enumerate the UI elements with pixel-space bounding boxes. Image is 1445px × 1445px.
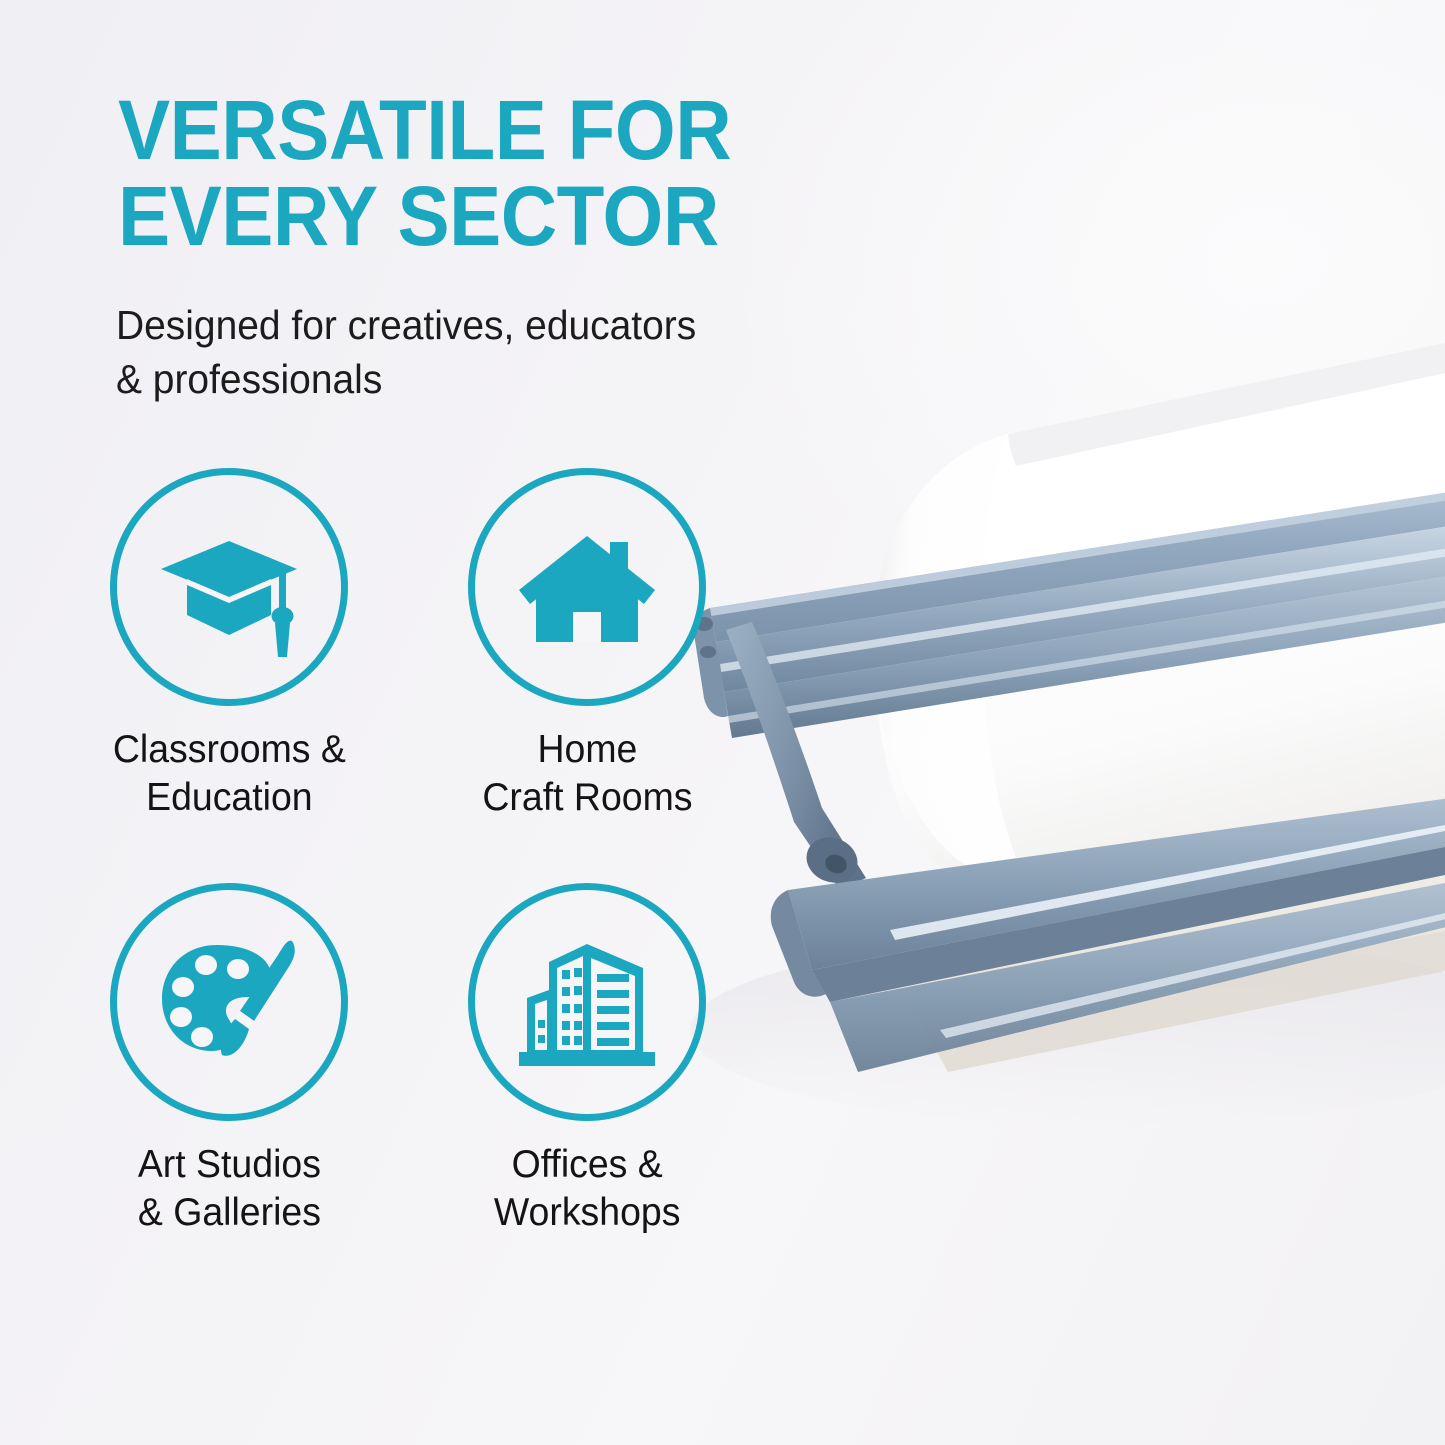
sector-icon-circle [468, 883, 706, 1121]
graduation-cap-icon [153, 511, 305, 663]
sector-icon-circle [110, 468, 348, 706]
sector-icon-circle [110, 883, 348, 1121]
sector-label: Classrooms & Education [112, 726, 345, 821]
sector-item-offices-workshops[interactable]: Offices & Workshops [458, 883, 716, 1236]
house-icon [514, 514, 660, 660]
sector-label: Home Craft Rooms [482, 726, 692, 821]
sector-icon-circle [468, 468, 706, 706]
sector-item-classrooms-education[interactable]: Classrooms & Education [100, 468, 358, 821]
page-title: VERSATILE FOR EVERY SECTOR [118, 88, 825, 259]
sector-row-top: Classrooms & Education Hom [100, 468, 720, 821]
product-photo [690, 330, 1445, 1160]
sector-row-bottom: Art Studios & Galleries [100, 883, 720, 1236]
sector-label: Art Studios & Galleries [137, 1141, 320, 1236]
sector-item-home-craft-rooms[interactable]: Home Craft Rooms [458, 468, 716, 821]
page-subtitle: Designed for creatives, educators & prof… [116, 298, 800, 406]
palette-brush-icon [154, 927, 304, 1077]
sector-label: Offices & Workshops [494, 1141, 681, 1236]
paper-roll-dispenser-illustration [690, 330, 1445, 1160]
office-buildings-icon [513, 928, 661, 1076]
versatile-for-every-sector-poster: VERSATILE FOR EVERY SECTOR Designed for … [0, 0, 1445, 1445]
sector-item-art-studios-galleries[interactable]: Art Studios & Galleries [100, 883, 358, 1236]
sector-icon-grid: Classrooms & Education Hom [100, 468, 720, 1236]
